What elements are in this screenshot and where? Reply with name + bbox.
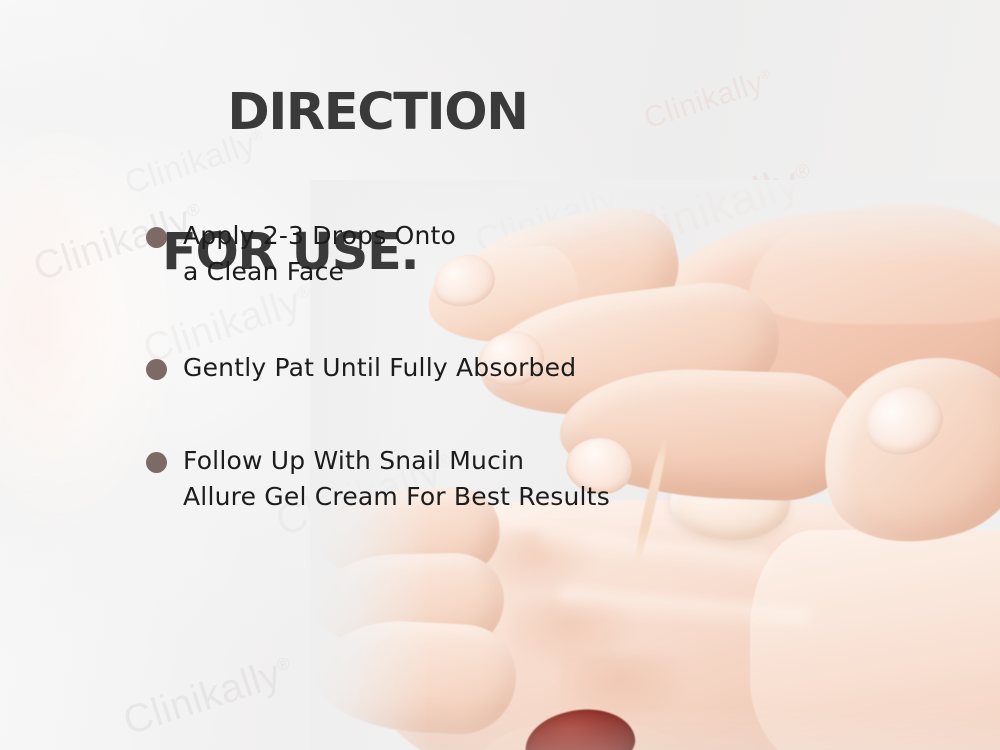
- title-line-1: DIRECTION: [227, 83, 527, 142]
- list-item: Gently Pat Until Fully Absorbed: [146, 350, 746, 386]
- instruction-list: Apply 2-3 Drops Onto a Clean Face Gently…: [146, 218, 746, 515]
- list-spacer: [146, 290, 746, 350]
- list-item: Follow Up With Snail Mucin Allure Gel Cr…: [146, 443, 746, 515]
- instruction-text: Gently Pat Until Fully Absorbed: [183, 350, 576, 386]
- left-pink-tint: [0, 170, 110, 470]
- list-item: Apply 2-3 Drops Onto a Clean Face: [146, 218, 746, 290]
- bullet-dot-icon: [146, 227, 167, 248]
- promo-banner: Clinikally®Clinikally®Clinikally®Clinika…: [0, 0, 1000, 750]
- bullet-dot-icon: [146, 452, 167, 473]
- bullet-dot-icon: [146, 359, 167, 380]
- instruction-text: Apply 2-3 Drops Onto a Clean Face: [183, 218, 456, 290]
- instruction-text: Follow Up With Snail Mucin Allure Gel Cr…: [183, 443, 610, 515]
- list-spacer: [146, 386, 746, 443]
- lower-hand-wrist: [750, 530, 1000, 750]
